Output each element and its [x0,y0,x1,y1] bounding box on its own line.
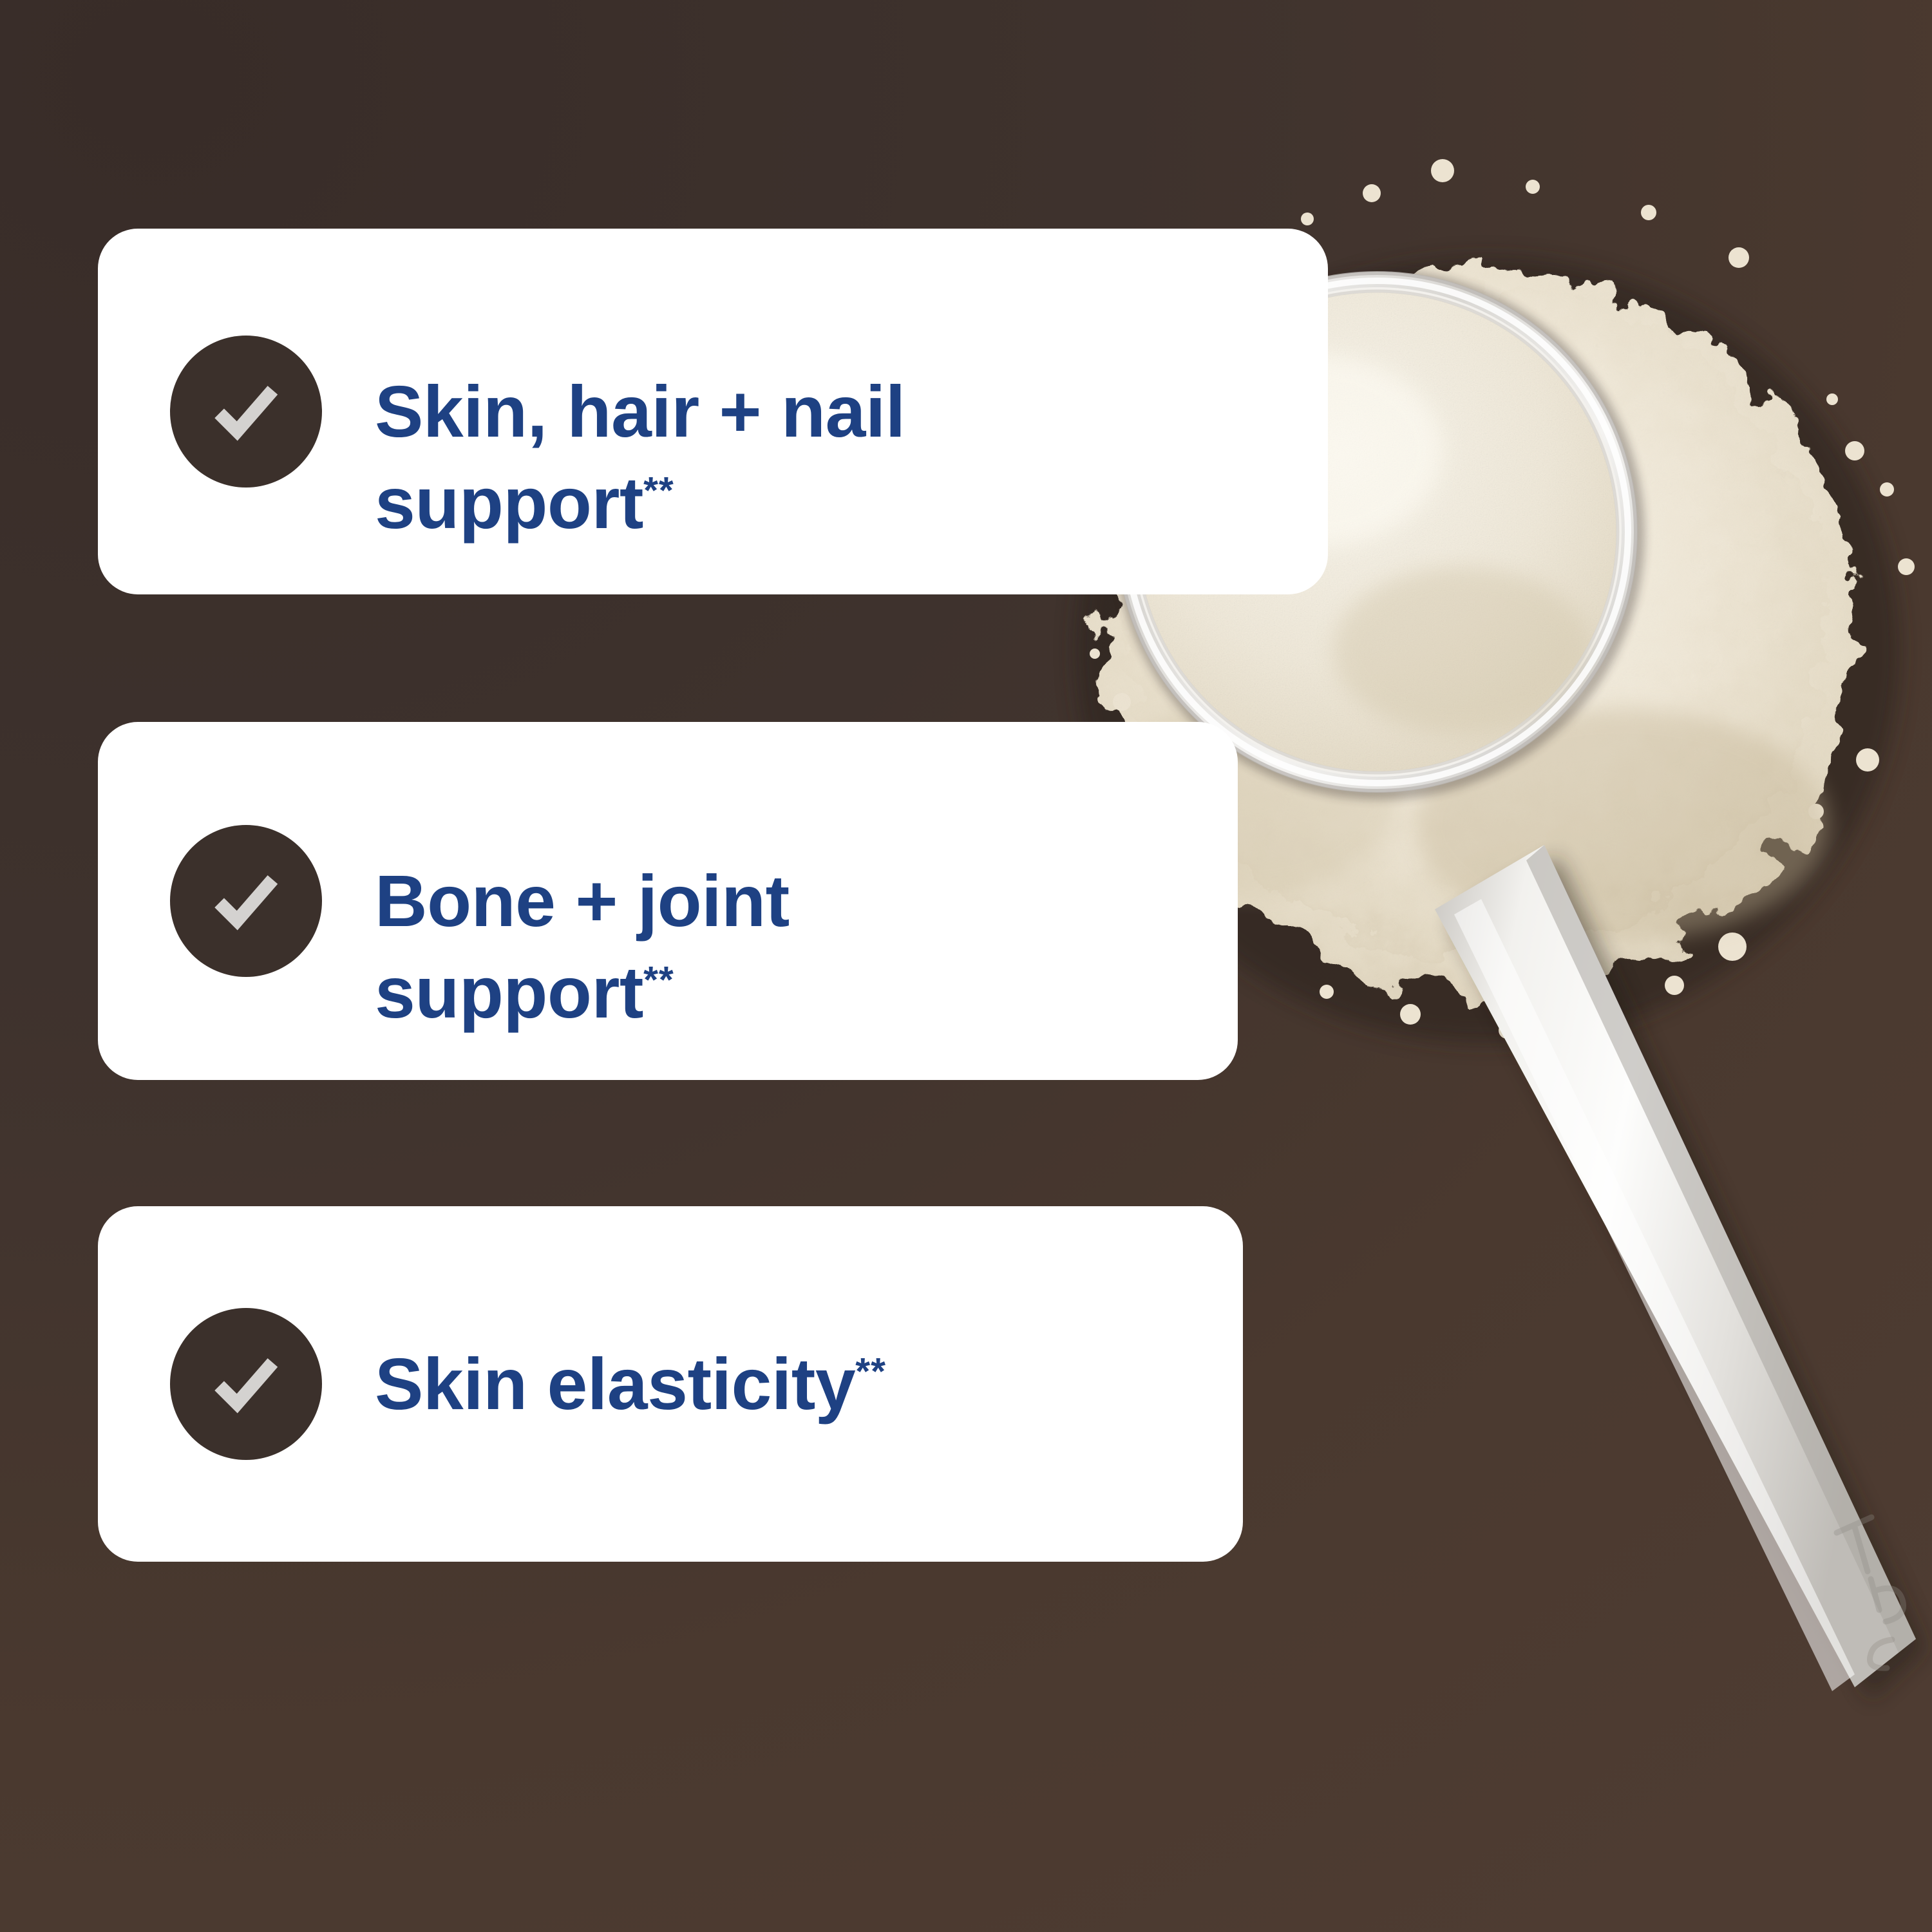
promo-graphic: Skin, hair + nail support** Bone + joint… [0,0,1932,1932]
footnote-marker: ** [643,470,674,512]
benefit-label: Skin elasticity** [375,1338,886,1430]
footnote-marker: ** [855,1350,886,1392]
check-icon [170,1308,322,1460]
footnote-marker: ** [643,960,674,1001]
benefit-card: Skin elasticity** [98,1206,1243,1562]
benefit-card: Skin, hair + nail support** [98,229,1328,594]
benefit-label-text: Skin, hair + nail support [375,371,905,544]
benefit-label-text: Bone + joint support [375,860,790,1033]
benefit-label-text: Skin elasticity [375,1343,855,1425]
benefit-card: Bone + joint support** [98,722,1238,1080]
benefit-label: Bone + joint support** [375,763,790,1038]
check-icon [170,825,322,977]
check-icon [170,336,322,488]
benefit-label: Skin, hair + nail support** [375,274,905,549]
